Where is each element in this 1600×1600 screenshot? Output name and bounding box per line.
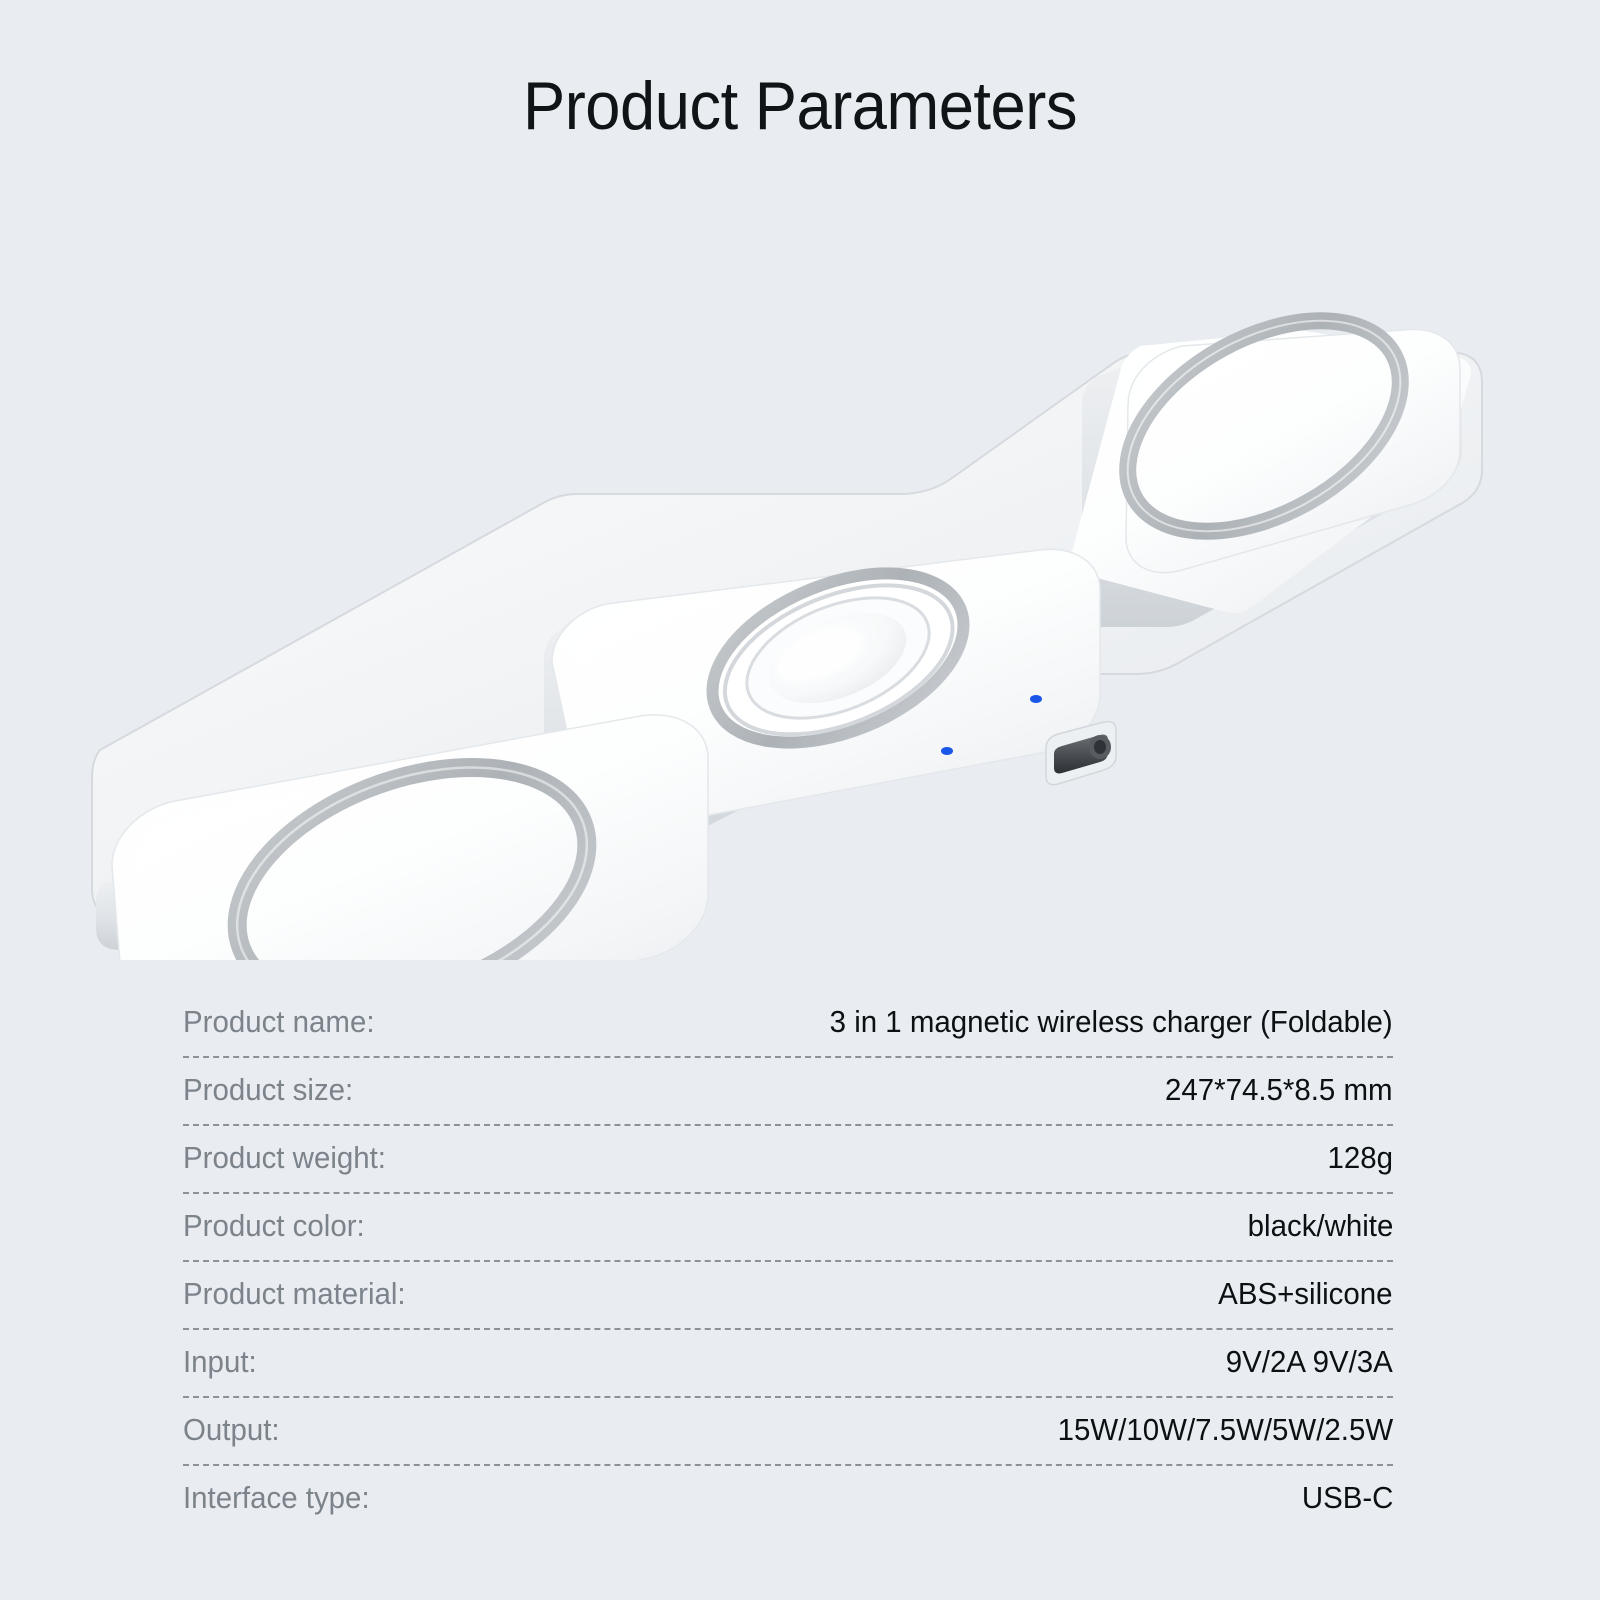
spec-row-product-color: Product color: black/white: [183, 1192, 1393, 1260]
led-indicator-2: [941, 747, 953, 755]
spec-value: 9V/2A 9V/3A: [1226, 1344, 1393, 1380]
spec-label: Input:: [183, 1344, 257, 1380]
spec-table: Product name: 3 in 1 magnetic wireless c…: [183, 988, 1393, 1532]
spec-value: USB-C: [1301, 1480, 1393, 1516]
page-title: Product Parameters: [56, 72, 1544, 140]
spec-value: black/white: [1247, 1208, 1393, 1244]
spec-row-interface-type: Interface type: USB-C: [183, 1464, 1393, 1532]
spec-row-output: Output: 15W/10W/7.5W/5W/2.5W: [183, 1396, 1393, 1464]
spec-value: 15W/10W/7.5W/5W/2.5W: [1058, 1412, 1393, 1448]
spec-row-product-material: Product material: ABS+silicone: [183, 1260, 1393, 1328]
spec-label: Product weight:: [183, 1140, 386, 1176]
spec-label: Interface type:: [183, 1480, 370, 1516]
spec-label: Product material:: [183, 1276, 406, 1312]
spec-value: 247*74.5*8.5 mm: [1165, 1072, 1393, 1108]
spec-row-product-name: Product name: 3 in 1 magnetic wireless c…: [183, 988, 1393, 1056]
spec-label: Product size:: [183, 1072, 353, 1108]
spec-value: 128g: [1327, 1140, 1393, 1176]
spec-label: Product color:: [183, 1208, 365, 1244]
spec-value: 3 in 1 magnetic wireless charger (Foldab…: [830, 1004, 1393, 1040]
led-indicator-1: [1030, 695, 1042, 703]
spec-row-input: Input: 9V/2A 9V/3A: [183, 1328, 1393, 1396]
product-hero-image: [0, 150, 1600, 960]
spec-row-product-weight: Product weight: 128g: [183, 1124, 1393, 1192]
spec-value: ABS+silicone: [1219, 1276, 1393, 1312]
spec-label: Output:: [183, 1412, 280, 1448]
pad-rear-earbuds: [1071, 277, 1471, 627]
spec-label: Product name:: [183, 1004, 375, 1040]
product-parameters-page: Product Parameters: [0, 0, 1600, 1600]
spec-row-product-size: Product size: 247*74.5*8.5 mm: [183, 1056, 1393, 1124]
